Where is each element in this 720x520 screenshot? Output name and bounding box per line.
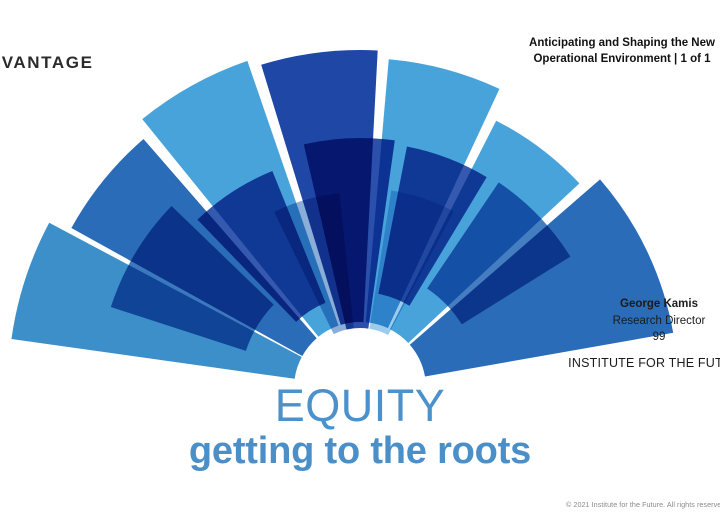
header-title: Anticipating and Shaping the New Operati… [462,36,720,68]
header-title-line-2: Operational Environment | 1 of 1 [462,52,720,68]
author-role: Research Director [524,313,720,330]
page-subtitle: getting to the roots [0,432,720,472]
author-block: George Kamis Research Director 99 INSTIT… [524,296,720,373]
brand-wordmark: ADVANTAGE [0,53,94,73]
header-title-line-1: Anticipating and Shaping the New [462,36,720,52]
presentation-slide: ADVANTAGE Anticipating and Shaping the N… [0,0,720,520]
copyright-notice: © 2021 Institute for the Future. All rig… [566,500,720,509]
author-meta: 99 [524,329,720,346]
title-block: EQUITY getting to the roots [0,383,720,472]
page-title: EQUITY [0,383,720,429]
author-name: George Kamis [524,296,720,313]
organization-name: INSTITUTE FOR THE FUTURE [524,355,720,373]
